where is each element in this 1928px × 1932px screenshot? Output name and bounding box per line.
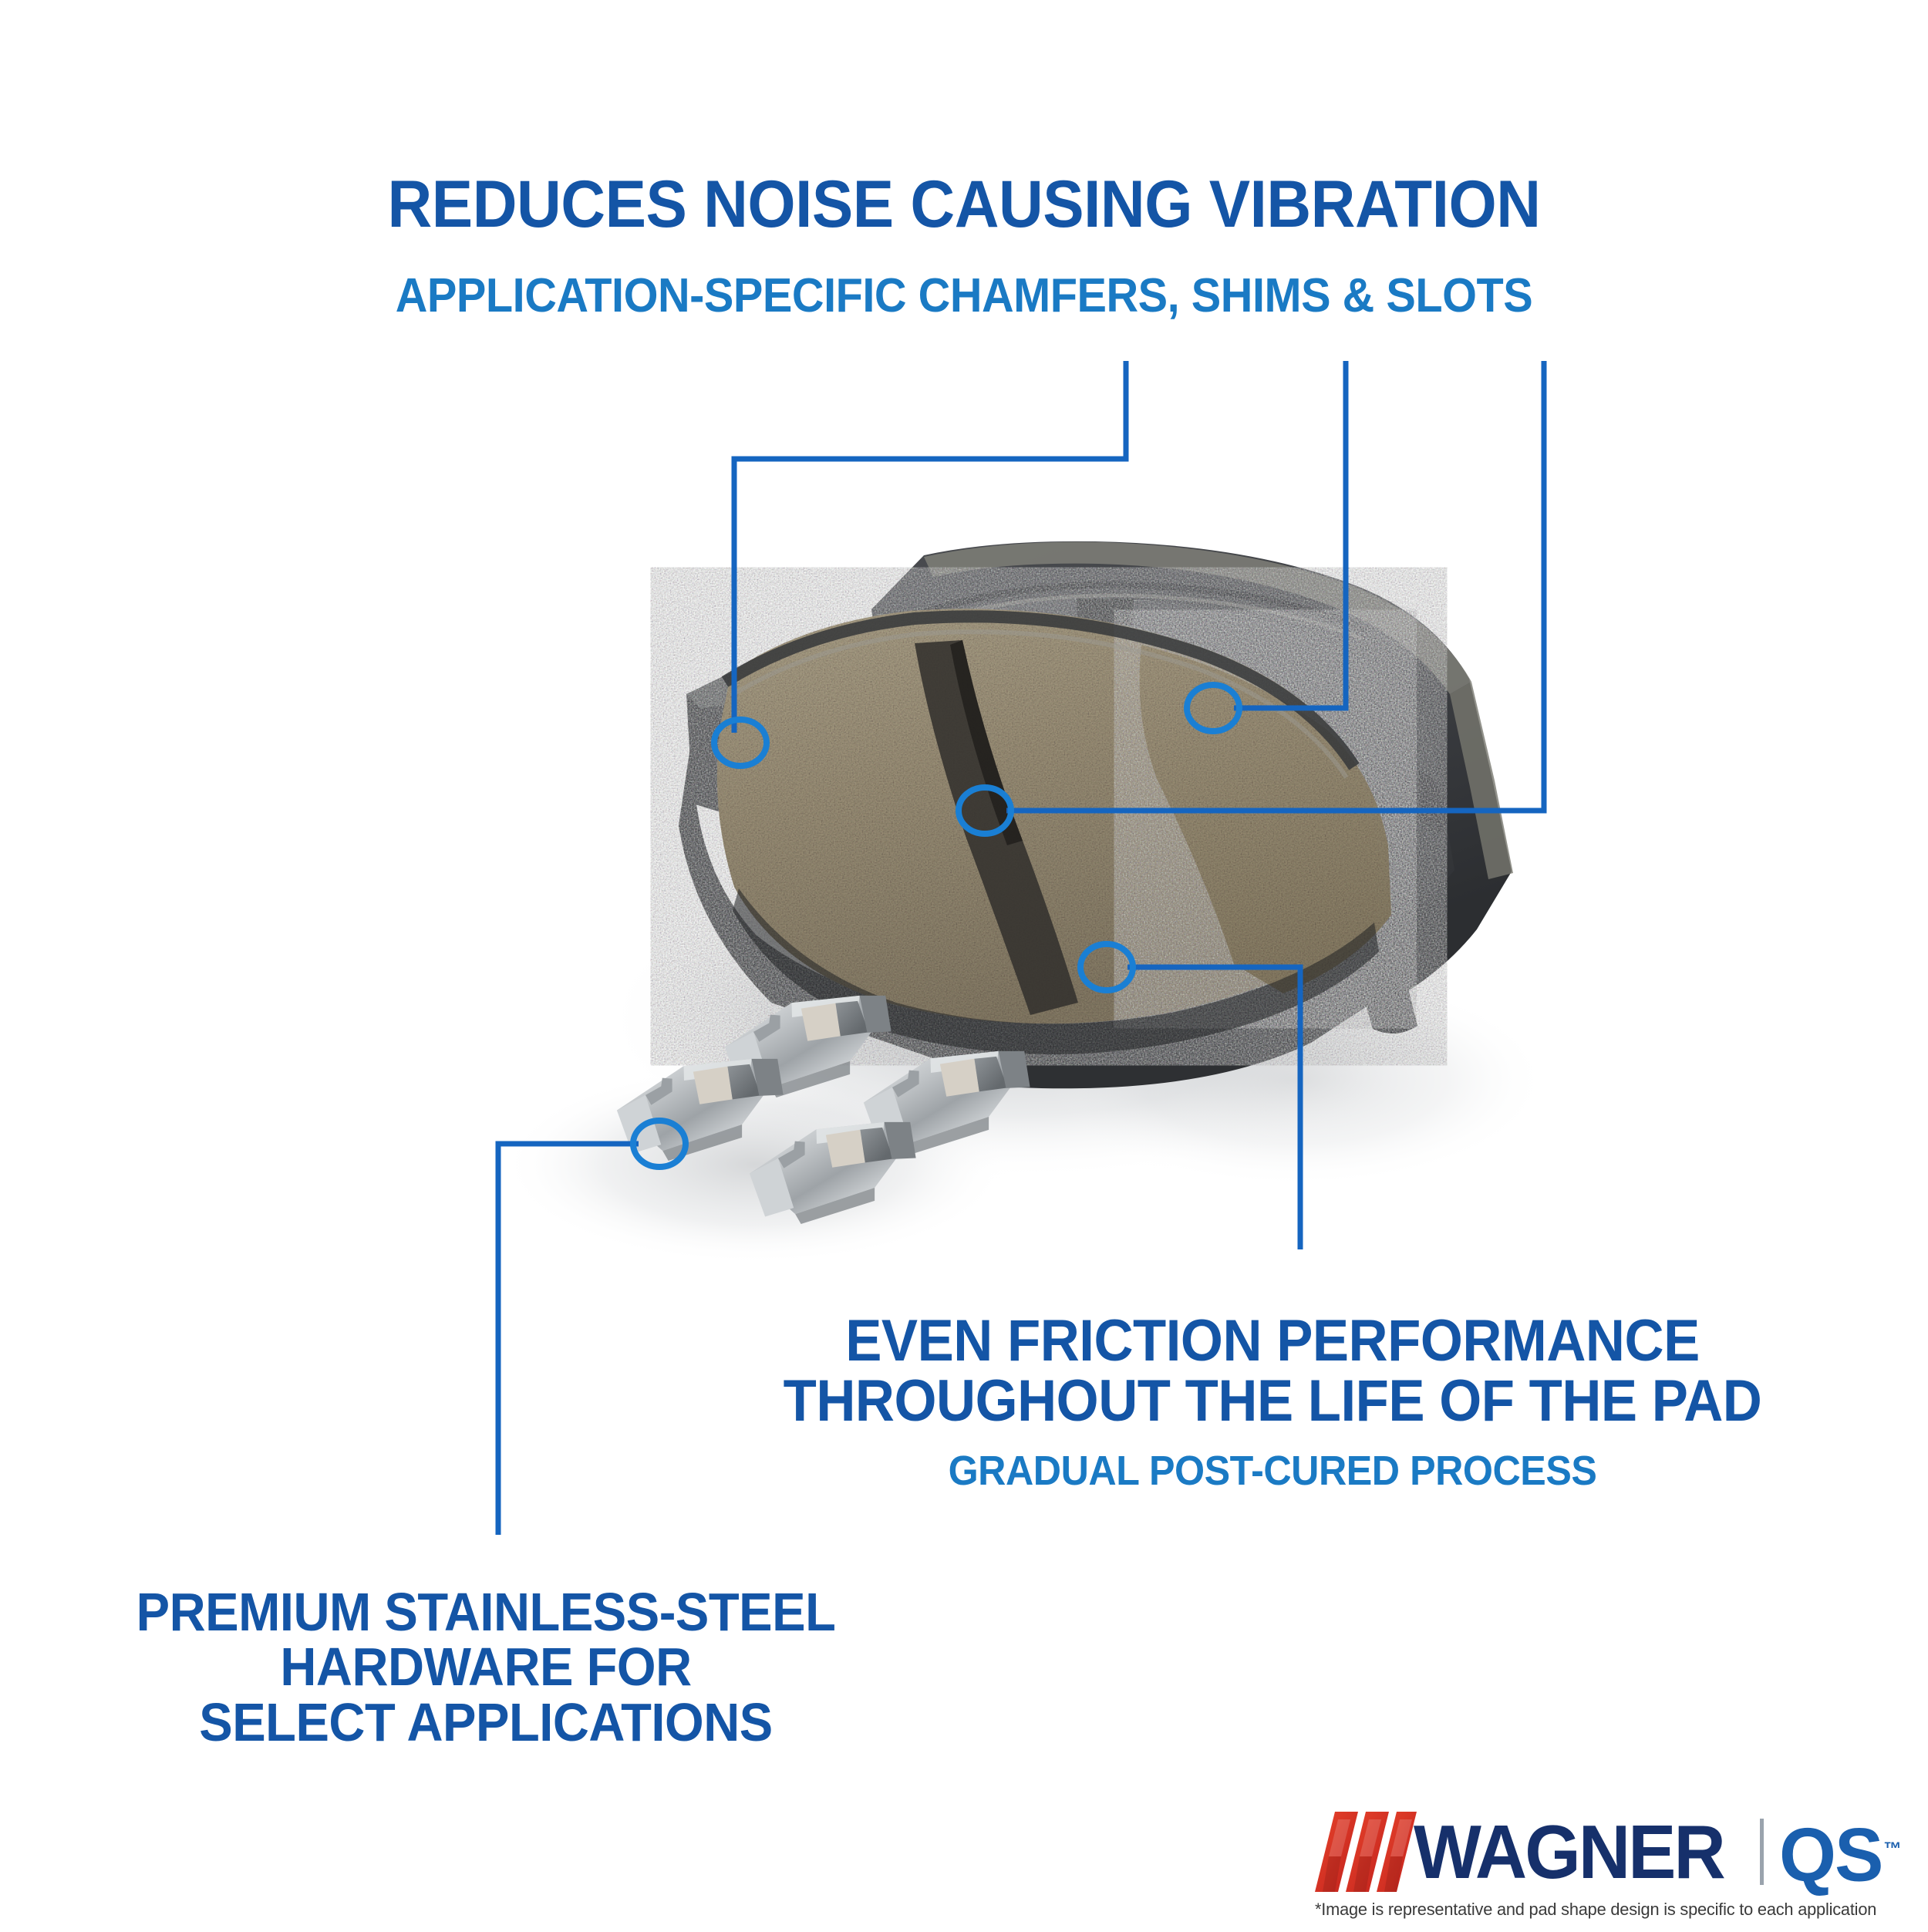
logo-sub-brand-text: QS — [1779, 1812, 1882, 1897]
headline-bottom-primary-line2: THROUGHOUT THE LIFE OF THE PAD — [677, 1371, 1868, 1431]
logo-sub-brand: QS™ — [1779, 1809, 1902, 1895]
wagner-qs-logo: WAGNER QS™ *Image is representative and … — [1315, 1809, 1878, 1932]
headline-bottom-primary: EVEN FRICTION PERFORMANCE THROUGHOUT THE… — [677, 1311, 1868, 1431]
trademark-icon: ™ — [1883, 1839, 1901, 1860]
headline-left-line2: HARDWARE FOR — [62, 1640, 908, 1694]
headline-left-line1: PREMIUM STAINLESS-STEEL — [62, 1585, 908, 1640]
headline-bottom-secondary: GRADUAL POST-CURED PROCESS — [677, 1450, 1868, 1492]
wagner-slash-icon — [1315, 1812, 1417, 1892]
logo-disclaimer: *Image is representative and pad shape d… — [1315, 1900, 1872, 1920]
headline-left-line3: SELECT APPLICATIONS — [62, 1695, 908, 1750]
headline-bottom-primary-line1: EVEN FRICTION PERFORMANCE — [845, 1308, 1700, 1374]
logo-divider — [1760, 1819, 1764, 1885]
infographic-canvas: REDUCES NOISE CAUSING VIBRATION APPLICAT… — [0, 0, 1928, 1928]
headline-left-hardware: PREMIUM STAINLESS-STEEL HARDWARE FOR SEL… — [62, 1585, 908, 1750]
logo-brand-wordmark: WAGNER — [1414, 1812, 1724, 1892]
headline-top-primary: REDUCES NOISE CAUSING VIBRATION — [68, 171, 1861, 239]
headline-top-secondary: APPLICATION-SPECIFIC CHAMFERS, SHIMS & S… — [68, 271, 1861, 320]
